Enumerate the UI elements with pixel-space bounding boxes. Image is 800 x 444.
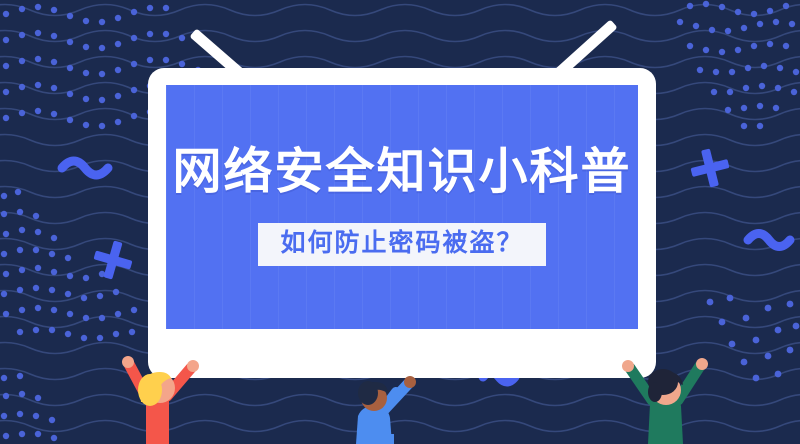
plus-right [687,145,733,191]
person-yellow-hair [105,356,215,444]
dot-cluster-mid-left [1,189,137,341]
screen-text-block: 网络安全知识小科普 如何防止密码被盗？ [166,85,638,329]
dot-cluster-top-right [677,1,799,129]
poster-canvas: 网络安全知识小科普 如何防止密码被盗？ [0,0,800,444]
squiggle-right [748,234,790,247]
subtitle-text: 如何防止密码被盗？ [280,229,523,258]
person-blue-shirt [338,376,438,444]
person-green-shirt [608,358,724,444]
squiggle-left [62,161,108,175]
page-title: 网络安全知识小科普 [172,148,631,197]
plus-left [89,236,136,283]
tv-frame: 网络安全知识小科普 如何防止密码被盗？ [148,68,656,378]
subtitle-box: 如何防止密码被盗？ [258,223,545,266]
tv-screen: 网络安全知识小科普 如何防止密码被盗？ [166,85,638,329]
dot-cluster-bottom-left [1,373,57,441]
